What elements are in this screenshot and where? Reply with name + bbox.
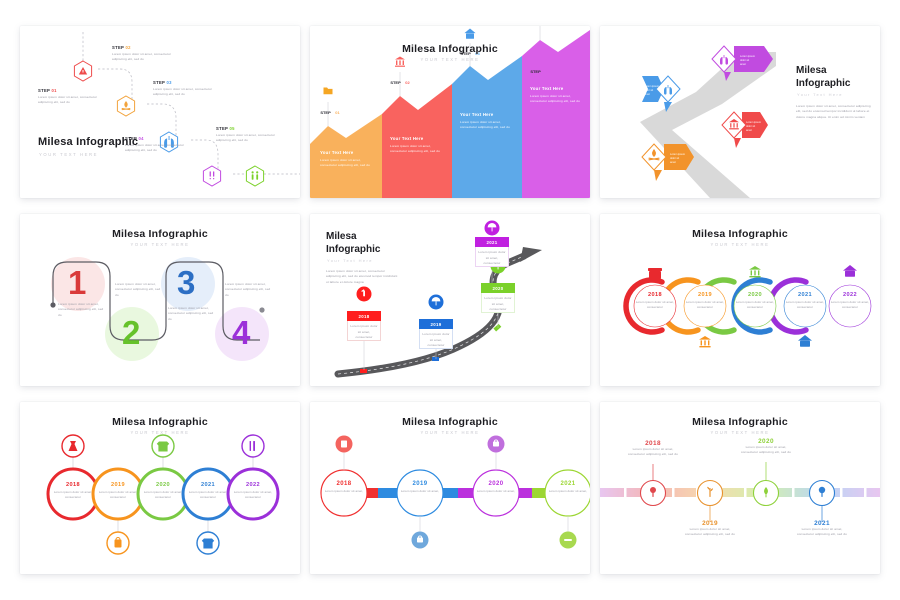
body-2021: Lorem ipsum dolor sit amet, consectetur [782, 300, 828, 310]
bank-icon-green [749, 266, 761, 277]
year-2018: 2018 [321, 481, 367, 487]
slide3-title: MilesaInfographic [796, 64, 876, 90]
slide6-item-2018: 2018 Lorem ipsum dolor sit amet, consect… [632, 292, 678, 310]
peak-heading-2: Your Text Here [390, 136, 442, 141]
year-2022: 2022 [827, 292, 873, 298]
slide-card-1[interactable]: STEP 01 Lorem ipsum dolor sit amet, cons… [20, 26, 300, 198]
path-end-dot [259, 307, 264, 312]
svg-text:dolor sit: dolor sit [644, 88, 653, 92]
page-title-1: Milesa Infographic [38, 136, 138, 148]
home-icon-purple [843, 265, 857, 277]
body-2020: Lorem ipsum dolor sit amet, consectetur … [738, 445, 794, 456]
slide8-item-2021: 2021 Lorem ipsum dolor sit amet, [545, 481, 590, 494]
slide2-step-marker-1: STEP 01 [310, 101, 350, 119]
step-label-2: STEP [390, 80, 400, 85]
slide-card-2[interactable]: STEP 01 STEP 02 STEP 03 STEP 04 Your Tex… [310, 26, 590, 198]
slide5-flag-2021: 2021 Lorem ipsum dolor sit amet, consect… [475, 237, 509, 267]
book-icon [341, 441, 347, 448]
step-body-3: Lorem ipsum dolor sit amet, consectetur … [153, 87, 215, 98]
svg-text:dolor sit: dolor sit [746, 124, 755, 128]
svg-text:Lorem ipsum: Lorem ipsum [670, 152, 685, 156]
slide-gallery-grid: STEP 01 Lorem ipsum dolor sit amet, cons… [0, 0, 900, 600]
flag-year-2020: 2020 [481, 283, 515, 293]
body-2019: Lorem ipsum dolor sit amet, consectetur [95, 490, 141, 500]
home-icon [464, 29, 475, 39]
folder-icon [324, 88, 333, 95]
step-number-1: 01 [335, 110, 339, 115]
slide5-flag-2019: 2019 Lorem ipsum dolor sit amet, consect… [419, 319, 453, 349]
slide6-item-2022: 2022 Lorem ipsum dolor sit amet, consect… [827, 292, 873, 310]
road-arrow-head [520, 247, 542, 262]
home-icon-blue [798, 335, 812, 347]
slide5-title: MilesaInfographic [326, 230, 396, 256]
slide7-item-2019: 2019 Lorem ipsum dolor sit amet, consect… [95, 482, 141, 500]
svg-text:amet: amet [746, 128, 752, 132]
svg-text:Lorem ipsum: Lorem ipsum [746, 120, 761, 124]
flag-body-2021: Lorem ipsum dolor sit amet, consectetur [478, 250, 506, 266]
slide2-peak-text-4: Your Text Here Lorem ipsum dolor sit ame… [530, 86, 582, 104]
page-subtitle-4: Your Text Here [20, 242, 300, 247]
year-2022: 2022 [230, 482, 276, 488]
year-2019: 2019 [682, 292, 728, 298]
body-2021: Lorem ipsum dolor sit amet, [545, 489, 590, 494]
svg-text:amet: amet [670, 160, 676, 164]
slide4-number-3: 3 [177, 266, 195, 299]
slide5-subtitle: Your Text Here [327, 258, 373, 263]
slide1-step-block-2: STEP 02 Lorem ipsum dolor sit amet, cons… [112, 45, 174, 63]
slide7-item-2020: 2020 Lorem ipsum dolor sit amet, consect… [140, 482, 186, 500]
peak-body-1: Lorem ipsum dolor sit amet, consectetur … [320, 158, 372, 169]
body-2018: Lorem ipsum dolor sit amet, consectetur … [625, 447, 681, 458]
body-2022: Lorem ipsum dolor sit amet, consectetur [230, 490, 276, 500]
page-subtitle-2: Your Text Here [310, 57, 590, 62]
year-2019: 2019 [95, 482, 141, 488]
hex-marker-5 [246, 166, 263, 186]
year-2018: 2018 [50, 482, 96, 488]
slide6-item-2019: 2019 Lorem ipsum dolor sit amet, consect… [682, 292, 728, 310]
step-label-3: STEP 03 [153, 80, 215, 85]
body-2019: Lorem ipsum dolor sit amet, consectetur [682, 300, 728, 310]
shirt-icon [157, 442, 169, 452]
page-subtitle-6: Your Text Here [600, 242, 880, 247]
body-2020: Lorem ipsum dolor sit amet, consectetur [140, 490, 186, 500]
slide1-step-block-3: STEP 03 Lorem ipsum dolor sit amet, cons… [153, 80, 215, 98]
year-2020: 2020 [732, 292, 778, 298]
peak-heading-1: Your Text Here [320, 150, 372, 155]
slide3-body: Lorem ipsum dolor sit amet, consectetur … [796, 104, 872, 120]
slide4-body-1: Lorem ipsum dolor sit amet, consectetur … [58, 302, 106, 318]
slide1-step-block-1: STEP 01 Lorem ipsum dolor sit amet, cons… [38, 88, 100, 106]
banner-1-orange [642, 144, 694, 181]
slide6-item-2020: 2020 Lorem ipsum dolor sit amet, consect… [732, 292, 778, 310]
slide5-body: Lorem ipsum dolor sit amet, consectetur … [326, 269, 398, 285]
peak-heading-4: Your Text Here [530, 86, 582, 91]
slide9-item-2021: 2021 Lorem ipsum dolor sit amet, consect… [794, 520, 850, 538]
year-2020: 2020 [140, 482, 186, 488]
icon-ring-2022 [242, 435, 264, 457]
slide2-peak-text-2: Your Text Here Lorem ipsum dolor sit ame… [390, 136, 442, 154]
peak-heading-3: Your Text Here [460, 112, 512, 117]
year-2018: 2018 [625, 440, 681, 447]
body-2022: Lorem ipsum dolor sit amet, consectetur [827, 300, 873, 310]
peak-4 [522, 30, 590, 198]
slide7-item-2021: 2021 Lorem ipsum dolor sit amet, consect… [185, 482, 231, 500]
flag-body-2019: Lorem ipsum dolor sit amet, consectetur [422, 332, 450, 348]
slide4-number-4: 4 [232, 316, 250, 349]
slide9-item-2019: 2019 Lorem ipsum dolor sit amet, consect… [682, 520, 738, 538]
year-2018: 2018 [632, 292, 678, 298]
year-2021: 2021 [545, 481, 590, 487]
slide7-item-2022: 2022 Lorem ipsum dolor sit amet, consect… [230, 482, 276, 500]
page-title-4: Milesa Infographic [20, 228, 300, 240]
body-2019: Lorem ipsum dolor sit amet, consectetur … [682, 527, 738, 538]
step-number-2: 02 [405, 80, 409, 85]
page-title-8: Milesa Infographic [310, 416, 590, 428]
step-body-1: Lorem ipsum dolor sit amet, consectetur … [38, 95, 100, 106]
slide-card-6[interactable]: 2018 Lorem ipsum dolor sit amet, consect… [600, 214, 880, 386]
body-2018: Lorem ipsum dolor sit amet, consectetur [50, 490, 96, 500]
slide8-item-2020: 2020 Lorem ipsum dolor sit amet, [473, 481, 519, 494]
slide2-step-marker-4: STEP 04 [520, 60, 560, 78]
page-subtitle-1: Your Text Here [39, 152, 98, 157]
flag-year-2021: 2021 [475, 237, 509, 247]
year-2020: 2020 [473, 481, 519, 487]
peak-body-2: Lorem ipsum dolor sit amet, consectetur … [390, 144, 442, 155]
body-2020: Lorem ipsum dolor sit amet, consectetur [732, 300, 778, 310]
flag-year-2018: 2018 [347, 311, 381, 321]
page-subtitle-9: Your Text Here [600, 430, 880, 435]
road-node-2018 [360, 369, 367, 373]
slide-card-5[interactable]: 2018 Lorem ipsum dolor sit amet, consect… [310, 214, 590, 386]
slide7-item-2018: 2018 Lorem ipsum dolor sit amet, consect… [50, 482, 96, 500]
slide-card-7[interactable]: 2018 Lorem ipsum dolor sit amet, consect… [20, 402, 300, 574]
body-2021: Lorem ipsum dolor sit amet, consectetur [185, 490, 231, 500]
step-label-5: STEP 05 [216, 126, 278, 131]
slide4-number-2: 2 [122, 316, 140, 349]
page-title-6: Milesa Infographic [600, 228, 880, 240]
year-2021: 2021 [794, 520, 850, 527]
step-body-5: Lorem ipsum dolor sit amet, consectetur … [216, 133, 278, 144]
slide-card-4[interactable]: 1 2 3 4 Lorem ipsum dolor sit amet, cons… [20, 214, 300, 386]
slide-card-3[interactable]: Lorem ipsumdolor sitamet Lorem ipsumdolo… [600, 26, 880, 198]
flag-year-2019: 2019 [419, 319, 453, 329]
peak-body-4: Lorem ipsum dolor sit amet, consectetur … [530, 94, 582, 105]
minus-icon [564, 539, 572, 541]
body-2021: Lorem ipsum dolor sit amet, consectetur … [794, 527, 850, 538]
step-label-1: STEP [320, 110, 330, 115]
body-2018: Lorem ipsum dolor sit amet, [321, 489, 367, 494]
body-2019: Lorem ipsum dolor sit amet, [397, 489, 443, 494]
slide5-flag-2018: 2018 Lorem ipsum dolor sit amet, consect… [347, 311, 381, 341]
hex-marker-4 [203, 166, 220, 186]
slide6-item-2021: 2021 Lorem ipsum dolor sit amet, consect… [782, 292, 828, 310]
slide5-flag-2020: 2020 Lorem ipsum dolor sit amet, consect… [481, 283, 515, 313]
page-title-9: Milesa Infographic [600, 416, 880, 428]
svg-text:amet: amet [740, 62, 746, 66]
slide8-item-2019: 2019 Lorem ipsum dolor sit amet, [397, 481, 443, 494]
slide2-step-marker-2: STEP 02 [380, 71, 420, 89]
year-2019: 2019 [682, 520, 738, 527]
slide1-step-block-5: STEP 05 Lorem ipsum dolor sit amet, cons… [216, 126, 278, 144]
body-2020: Lorem ipsum dolor sit amet, [473, 489, 519, 494]
path-start-dot [50, 302, 55, 307]
year-2021: 2021 [782, 292, 828, 298]
slide-card-8[interactable]: 2018 Lorem ipsum dolor sit amet, 2019 Lo… [310, 402, 590, 574]
page-title-7: Milesa Infographic [20, 416, 300, 428]
slide3-subtitle: Your Text Here [797, 92, 843, 97]
slide9-item-2020: 2020 Lorem ipsum dolor sit amet, consect… [738, 438, 794, 456]
peak-body-3: Lorem ipsum dolor sit amet, consectetur … [460, 120, 512, 131]
year-2021: 2021 [185, 482, 231, 488]
step-number-4: 04 [545, 69, 549, 74]
year-2020: 2020 [738, 438, 794, 445]
year-2019: 2019 [397, 481, 443, 487]
step-label-4: STEP [530, 69, 540, 74]
road-node-2019 [432, 357, 439, 361]
slide2-peak-text-1: Your Text Here Lorem ipsum dolor sit ame… [320, 150, 372, 168]
shop-icon [648, 268, 662, 279]
step-label-2: STEP 02 [112, 45, 174, 50]
svg-text:dolor sit: dolor sit [740, 58, 749, 62]
slide9-item-2018: 2018 Lorem ipsum dolor sit amet, consect… [625, 440, 681, 458]
slide8-item-2018: 2018 Lorem ipsum dolor sit amet, [321, 481, 367, 494]
bank-icon-orange [699, 336, 711, 347]
slide4-number-1: 1 [68, 266, 86, 299]
slide4-body-3: Lorem ipsum dolor sit amet, consectetur … [168, 306, 216, 322]
page-subtitle-7: Your Text Here [20, 430, 300, 435]
svg-text:dolor sit: dolor sit [670, 156, 679, 160]
flag-body-2018: Lorem ipsum dolor sit amet, consectetur [350, 324, 378, 340]
slide4-body-4: Lorem ipsum dolor sit amet, consectetur … [225, 282, 273, 298]
slide2-peak-text-3: Your Text Here Lorem ipsum dolor sit ame… [460, 112, 512, 130]
page-title-2: Milesa Infographic [310, 43, 590, 55]
step-body-2: Lorem ipsum dolor sit amet, consectetur … [112, 52, 174, 63]
svg-text:amet: amet [644, 92, 650, 96]
body-2018: Lorem ipsum dolor sit amet, consectetur [632, 300, 678, 310]
flag-body-2020: Lorem ipsum dolor sit amet, consectetur [484, 296, 512, 312]
step-label-1: STEP 01 [38, 88, 100, 93]
banner-2-red [722, 112, 768, 148]
slide4-body-2: Lorem ipsum dolor sit amet, consectetur … [115, 282, 163, 298]
tshirt-icon [202, 539, 214, 549]
svg-text:Lorem ipsum: Lorem ipsum [740, 54, 755, 58]
slide-card-9[interactable]: 2018 Lorem ipsum dolor sit amet, consect… [600, 402, 880, 574]
svg-text:Lorem ipsum: Lorem ipsum [644, 84, 659, 88]
page-subtitle-8: Your Text Here [310, 430, 590, 435]
